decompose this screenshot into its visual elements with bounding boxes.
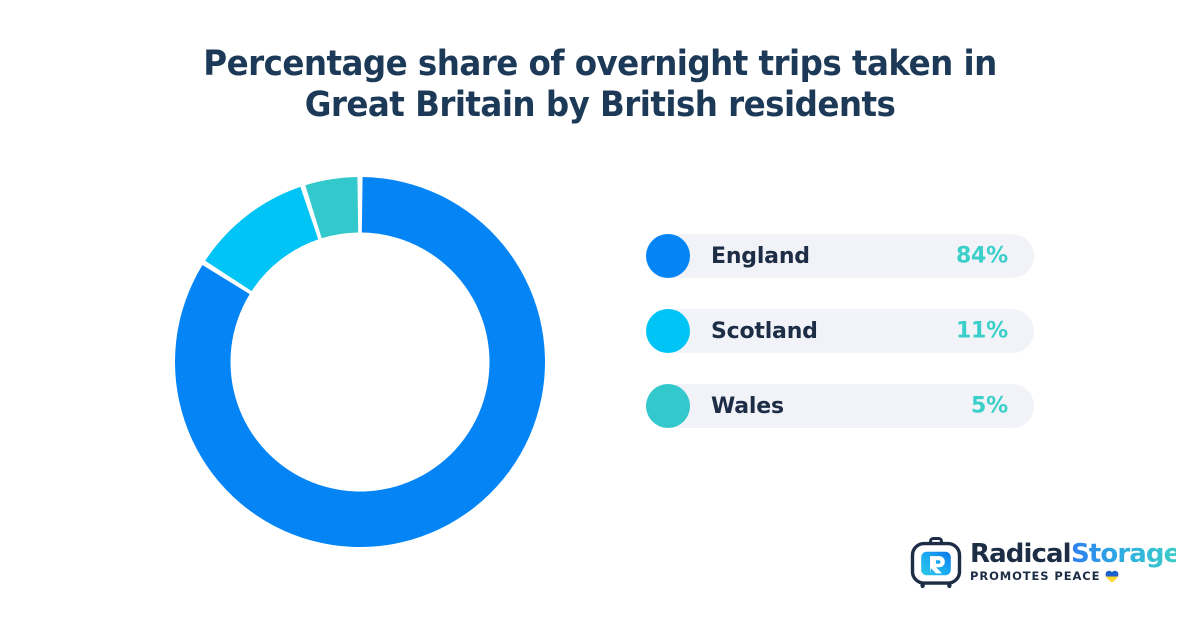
legend-label-scotland: Scotland	[711, 319, 818, 344]
legend-value-england: 84%	[956, 244, 1008, 269]
logo-word-radical: Radical	[970, 539, 1071, 569]
logo-wordmark-svg: Radical Storage	[970, 537, 1176, 571]
suitcase-monogram-icon-svg	[908, 535, 964, 591]
donut-slice-group	[175, 177, 545, 547]
legend-color-dot-wales	[646, 384, 690, 428]
legend-label-wales: Wales	[711, 394, 784, 419]
legend-value-wales: 5%	[971, 394, 1008, 419]
ukraine-flag-heart-icon	[1105, 570, 1119, 583]
logo-tagline: PROMOTES PEACE	[970, 569, 1119, 583]
legend-color-dot-scotland	[646, 309, 690, 353]
brand-logo[interactable]: Radical Storage PROMOTES PEACE	[908, 533, 1176, 593]
legend-row-scotland[interactable]: Scotland 11%	[646, 309, 1034, 353]
logo-word-storage: Storage	[1071, 539, 1176, 569]
legend-value-scotland: 11%	[956, 319, 1008, 344]
page-title: Percentage share of overnight trips take…	[0, 44, 1200, 126]
chart-legend: England 84% Scotland 11% Wales 5%	[646, 234, 1034, 428]
legend-row-wales[interactable]: Wales 5%	[646, 384, 1034, 428]
donut-chart-svg	[170, 172, 550, 552]
donut-chart	[170, 172, 550, 552]
legend-row-england[interactable]: England 84%	[646, 234, 1034, 278]
logo-text-block: Radical Storage PROMOTES PEACE	[970, 537, 1176, 589]
logo-tagline-text: PROMOTES PEACE	[970, 569, 1100, 583]
donut-slice-scotland[interactable]	[205, 187, 318, 291]
legend-color-dot-england	[646, 234, 690, 278]
page-title-line-1: Percentage share of overnight trips take…	[42, 44, 1158, 85]
legend-label-england: England	[711, 244, 810, 269]
infographic-canvas: Percentage share of overnight trips take…	[0, 0, 1200, 623]
page-title-line-2: Great Britain by British residents	[42, 85, 1158, 126]
suitcase-monogram-icon	[908, 535, 964, 591]
